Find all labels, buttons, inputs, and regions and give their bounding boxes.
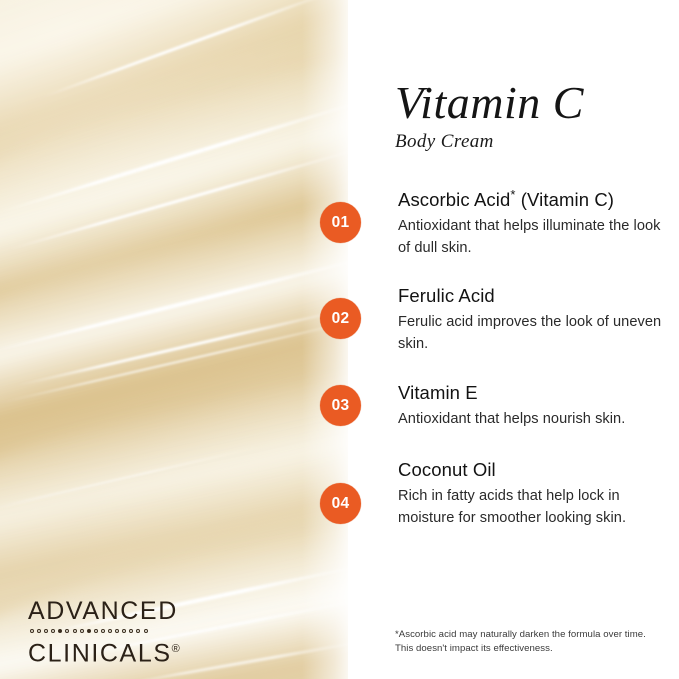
ingredient-heading: Ascorbic Acid* (Vitamin C) xyxy=(398,188,674,212)
footnote-disclaimer: *Ascorbic acid may naturally darken the … xyxy=(395,628,665,655)
content-panel: Vitamin C Body Cream Ascorbic Acid* (Vit… xyxy=(348,0,679,679)
ingredient-list: Ascorbic Acid* (Vitamin C)Antioxidant th… xyxy=(348,0,679,679)
ingredient-name: Ascorbic Acid xyxy=(398,189,510,210)
cream-texture-photo: ADVANCED CLINICALS® xyxy=(0,0,348,679)
ingredient-number-badge: 04 xyxy=(320,483,361,524)
logo-dot xyxy=(65,629,69,633)
ingredient-description: Antioxidant that helps nourish skin. xyxy=(398,409,674,431)
logo-dot xyxy=(80,629,84,633)
ingredient-name: Vitamin E xyxy=(398,382,478,403)
product-infographic: ADVANCED CLINICALS® Vitamin C Body Cream… xyxy=(0,0,679,679)
logo-dot xyxy=(136,629,140,633)
brand-name-line-1: ADVANCED xyxy=(28,598,258,625)
logo-dot xyxy=(108,629,112,633)
logo-dot xyxy=(144,629,148,633)
ingredient-description: Antioxidant that helps illuminate the lo… xyxy=(398,216,674,259)
ingredient-item: Ferulic AcidFerulic acid improves the lo… xyxy=(398,284,674,355)
ingredient-description: Rich in fatty acids that help lock in mo… xyxy=(398,486,674,529)
ingredient-heading: Coconut Oil xyxy=(398,458,674,482)
ingredient-item: Ascorbic Acid* (Vitamin C)Antioxidant th… xyxy=(398,188,674,259)
ingredient-name: Coconut Oil xyxy=(398,459,496,480)
logo-dot xyxy=(129,629,133,633)
ingredient-name: Ferulic Acid xyxy=(398,285,495,306)
logo-dot xyxy=(94,629,98,633)
ingredient-heading: Ferulic Acid xyxy=(398,284,674,308)
logo-dot xyxy=(101,629,105,633)
brand-logo: ADVANCED CLINICALS® xyxy=(28,598,258,667)
brand-name-line-2: CLINICALS® xyxy=(28,636,258,667)
brand-logo-dot-divider xyxy=(30,626,258,635)
logo-dot xyxy=(122,629,126,633)
ingredient-number-badge: 01 xyxy=(320,202,361,243)
ingredient-item: Coconut OilRich in fatty acids that help… xyxy=(398,458,674,529)
ingredient-number-badge: 02 xyxy=(320,298,361,339)
logo-dot xyxy=(44,629,48,633)
registered-trademark-icon: ® xyxy=(172,643,180,655)
brand-name-line-2-text: CLINICALS xyxy=(28,639,172,667)
ingredient-number-badge: 03 xyxy=(320,385,361,426)
ingredient-name-suffix: (Vitamin C) xyxy=(516,189,615,210)
logo-dot xyxy=(30,629,34,633)
ingredient-description: Ferulic acid improves the look of uneven… xyxy=(398,312,674,355)
logo-dot xyxy=(115,629,119,633)
logo-dot xyxy=(58,629,62,633)
logo-dot xyxy=(37,629,41,633)
photo-edge-fade xyxy=(302,0,348,679)
logo-dot xyxy=(87,629,91,633)
ingredient-heading: Vitamin E xyxy=(398,381,674,405)
ingredient-item: Vitamin EAntioxidant that helps nourish … xyxy=(398,381,674,431)
logo-dot xyxy=(73,629,77,633)
logo-dot xyxy=(51,629,55,633)
